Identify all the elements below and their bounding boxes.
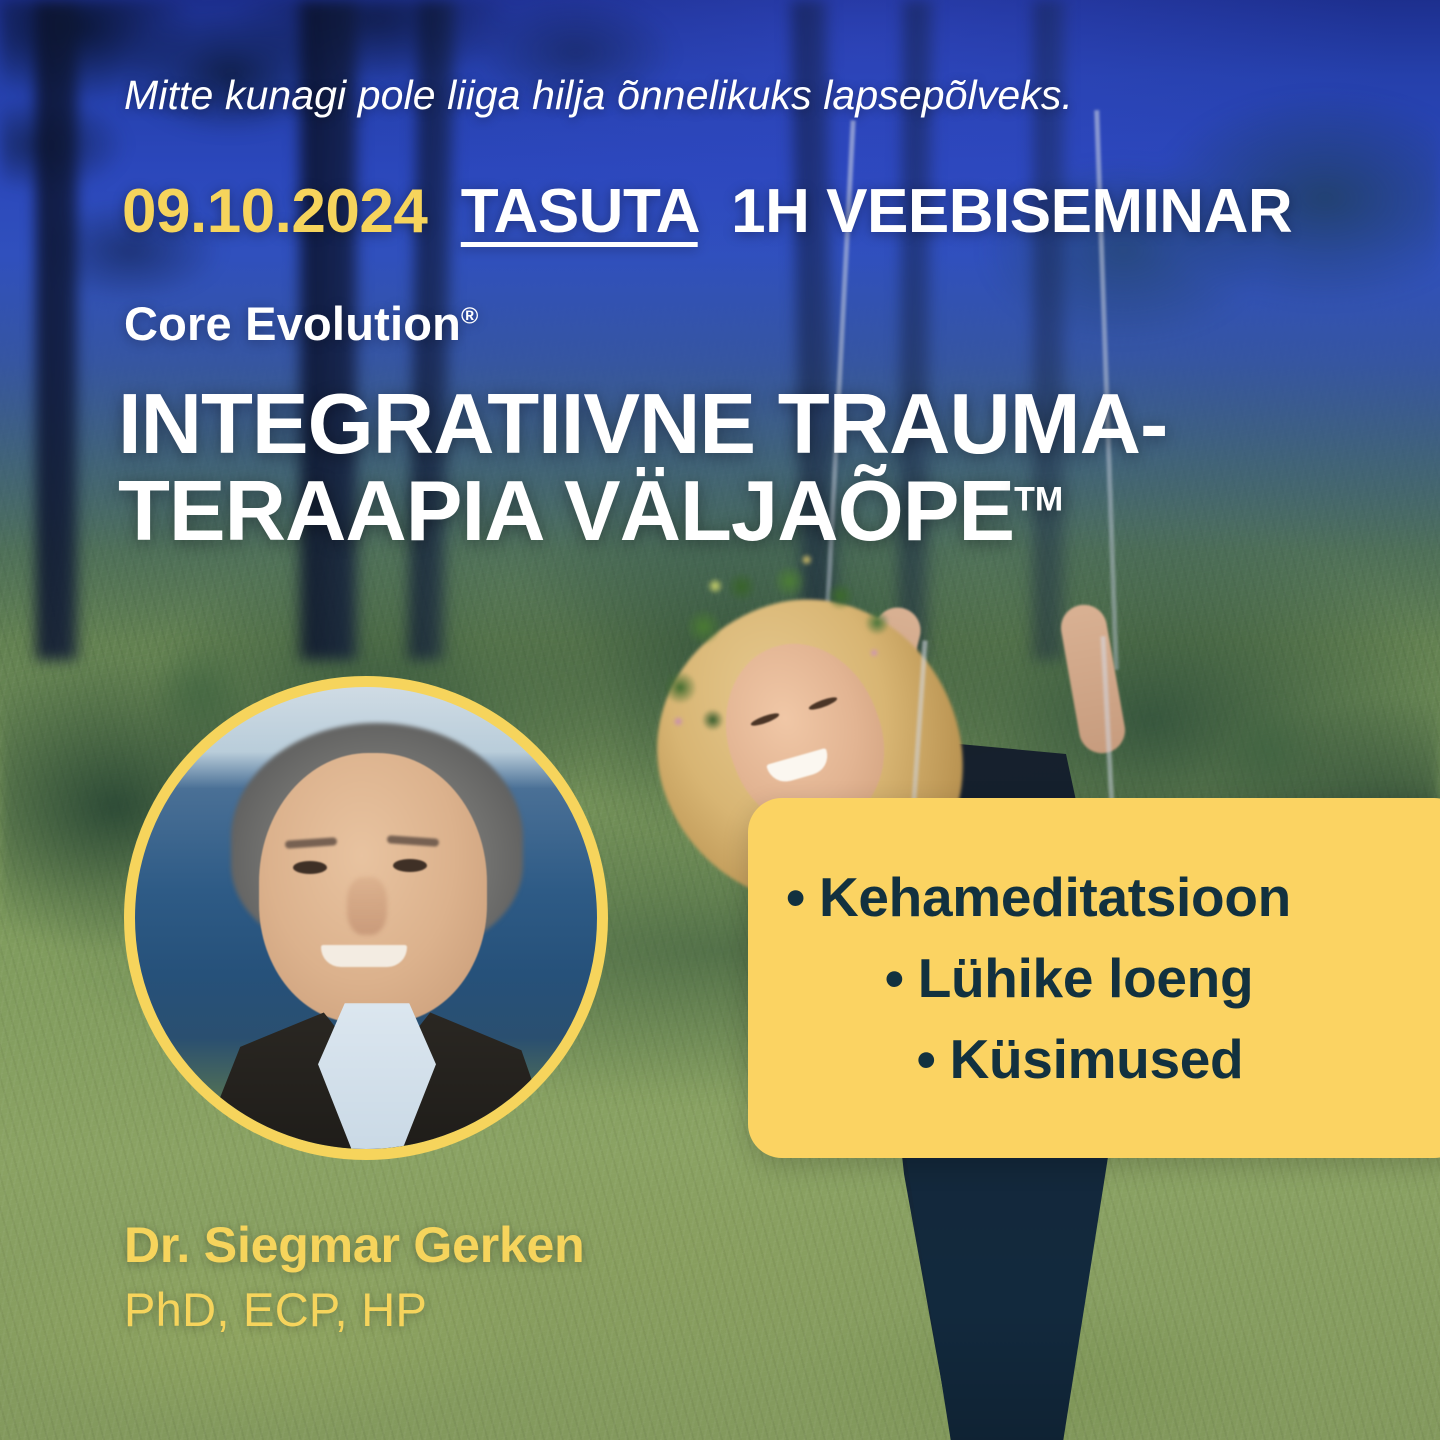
headline-line-1: INTEGRATIIVNE TRAUMA- — [118, 382, 1408, 469]
bullet-icon: • — [917, 1028, 936, 1090]
portrait-eye-left — [293, 861, 327, 874]
brand-name: Core Evolution® — [124, 296, 479, 351]
portrait-smile — [321, 945, 407, 967]
free-badge: TASUTA — [461, 177, 698, 246]
page-title: INTEGRATIIVNE TRAUMA- TERAAPIA VÄLJAÕPET… — [118, 382, 1408, 555]
bullet-icon: • — [786, 866, 805, 928]
webinar-duration: 1H VEEBISEMINAR — [731, 177, 1292, 246]
agenda-item-label: Lühike loeng — [918, 947, 1254, 1009]
presenter-name: Dr. Siegmar Gerken — [124, 1216, 585, 1274]
webinar-promo-poster: Mitte kunagi pole liiga hilja õnnelikuks… — [0, 0, 1440, 1440]
list-item: •Kehameditatsioon — [772, 870, 1428, 925]
agenda-item-label: Kehameditatsioon — [819, 866, 1291, 928]
headline-line-2-wrap: TERAAPIA VÄLJAÕPETM — [118, 469, 1408, 556]
list-item: •Küsimused — [772, 1032, 1428, 1087]
date-and-format-line: 09.10.2024 TASUTA 1H VEEBISEMINAR — [122, 176, 1292, 247]
presenter-credentials: PhD, ECP, HP — [124, 1282, 427, 1337]
portrait-eye-right — [393, 859, 427, 872]
avatar — [124, 676, 608, 1160]
headline-line-2: TERAAPIA VÄLJAÕPE — [118, 464, 1014, 559]
bullet-icon: • — [885, 947, 904, 1009]
list-item: •Lühike loeng — [772, 951, 1428, 1006]
raised-arm-right — [1057, 601, 1128, 757]
tagline: Mitte kunagi pole liiga hilja õnnelikuks… — [124, 72, 1073, 119]
trademark-icon: TM — [1014, 480, 1063, 518]
agenda-card: •Kehameditatsioon •Lühike loeng •Küsimus… — [748, 798, 1440, 1158]
webinar-date: 09.10.2024 — [122, 177, 427, 246]
portrait-nose — [347, 877, 387, 935]
agenda-item-label: Küsimused — [950, 1028, 1244, 1090]
registered-trademark-icon: ® — [461, 302, 479, 328]
brand-label: Core Evolution — [124, 297, 461, 350]
